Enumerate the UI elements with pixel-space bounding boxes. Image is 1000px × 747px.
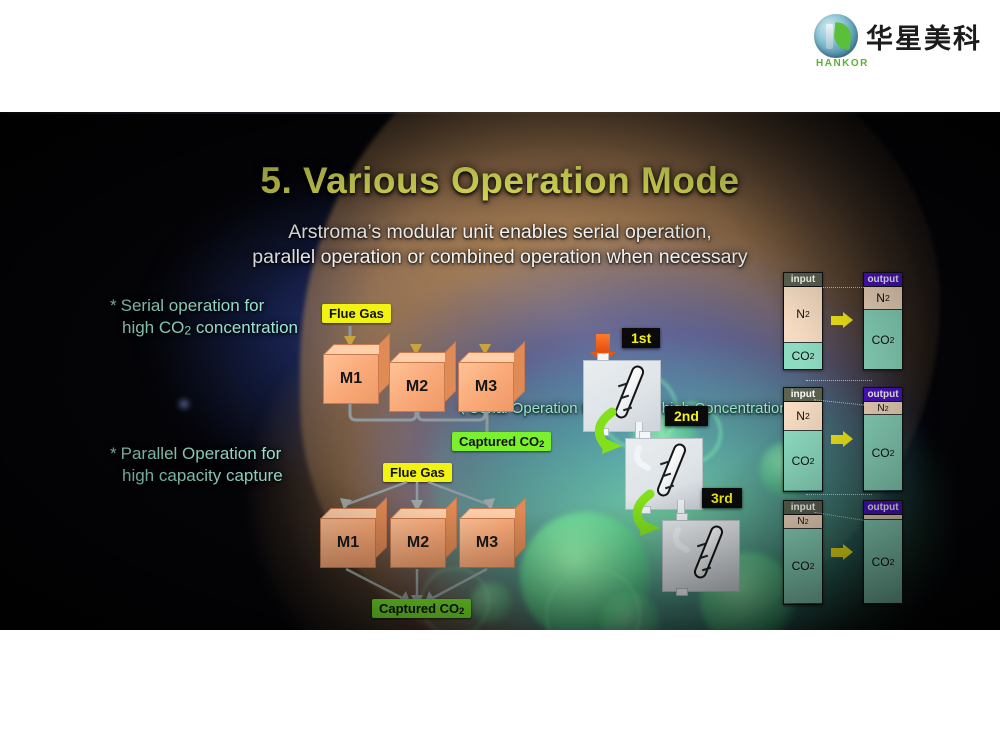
logo-latin-text: HANKOR xyxy=(816,58,869,69)
serial-module-m1-label: M1 xyxy=(323,354,379,404)
n2-sub: 2 xyxy=(885,293,890,303)
input-bar-2-n2-segment: N2 xyxy=(784,402,822,431)
co2-sub: 2 xyxy=(810,456,815,466)
output-bar-1-co2-segment: CO2 xyxy=(864,310,902,369)
parallel-module-m2-label: M2 xyxy=(390,518,446,568)
co2-sub: 2 xyxy=(810,351,815,361)
input-bar-1-header: input xyxy=(784,273,822,287)
co2-label: CO xyxy=(792,454,810,468)
output-bar-2: output N2 CO2 xyxy=(863,387,903,492)
n2-sub: 2 xyxy=(885,404,889,413)
n2-sub: 2 xyxy=(805,517,809,526)
n2-label: N xyxy=(796,307,805,321)
n2-sub: 2 xyxy=(805,309,810,319)
input-bar-2: input N2 CO2 xyxy=(783,387,823,492)
guide-dotline xyxy=(806,494,872,495)
n2-label: N xyxy=(877,403,884,414)
logo-chinese-text: 华星美科 xyxy=(866,17,982,56)
n2-label: N xyxy=(796,409,805,423)
serial-module-m3-label: M3 xyxy=(458,362,514,412)
transform-arrow-icon-3 xyxy=(831,548,843,557)
leaf-circle-logo-icon: HANKOR xyxy=(814,14,858,58)
output-bar-2-header: output xyxy=(864,388,902,402)
slide-content-area: 5. Various Operation Mode Arstroma’s mod… xyxy=(0,112,1000,630)
output-bar-2-n2-segment: N2 xyxy=(864,402,902,415)
output-bar-3-co2-segment: CO2 xyxy=(864,520,902,603)
transform-arrow-icon-1 xyxy=(831,316,843,325)
transform-arrow-icon-2 xyxy=(831,435,843,444)
parallel-module-m1-label: M1 xyxy=(320,518,376,568)
output-bar-1: output N2 CO2 xyxy=(863,272,903,370)
co2-sub: 2 xyxy=(890,557,895,567)
input-bar-1-co2-segment: CO2 xyxy=(784,343,822,369)
output-bar-1-header: output xyxy=(864,273,902,287)
co2-sub: 2 xyxy=(890,448,895,458)
output-bar-3-header: output xyxy=(864,501,902,515)
output-bar-3: output CO2 xyxy=(863,500,903,605)
n2-label: N xyxy=(797,516,804,527)
guide-dotline xyxy=(814,287,866,288)
n2-label: N xyxy=(876,291,885,305)
input-bar-3-co2-segment: CO2 xyxy=(784,529,822,603)
co2-label: CO xyxy=(872,555,890,569)
input-bar-3: input N2 CO2 xyxy=(783,500,823,605)
co2-sub: 2 xyxy=(890,335,895,345)
co2-label: CO xyxy=(792,349,810,363)
brand-logo: HANKOR 华星美科 xyxy=(814,14,982,58)
co2-label: CO xyxy=(792,559,810,573)
parallel-module-m3-label: M3 xyxy=(459,518,515,568)
input-bar-1-n2-segment: N2 xyxy=(784,287,822,343)
co2-sub: 2 xyxy=(810,561,815,571)
guide-dotline xyxy=(806,380,872,381)
output-bar-1-n2-segment: N2 xyxy=(864,287,902,311)
logo-stem-shape xyxy=(826,24,833,49)
n2-sub: 2 xyxy=(805,411,810,421)
input-bar-2-co2-segment: CO2 xyxy=(784,431,822,490)
co2-label: CO xyxy=(872,446,890,460)
serial-module-m2-label: M2 xyxy=(389,362,445,412)
logo-leaf-shape xyxy=(833,22,853,50)
output-bar-2-co2-segment: CO2 xyxy=(864,415,902,490)
input-bar-3-n2-segment: N2 xyxy=(784,515,822,529)
slide-page: HANKOR 华星美科 5. Various Operation Mode Ar… xyxy=(0,0,1000,747)
co2-label: CO xyxy=(872,333,890,347)
